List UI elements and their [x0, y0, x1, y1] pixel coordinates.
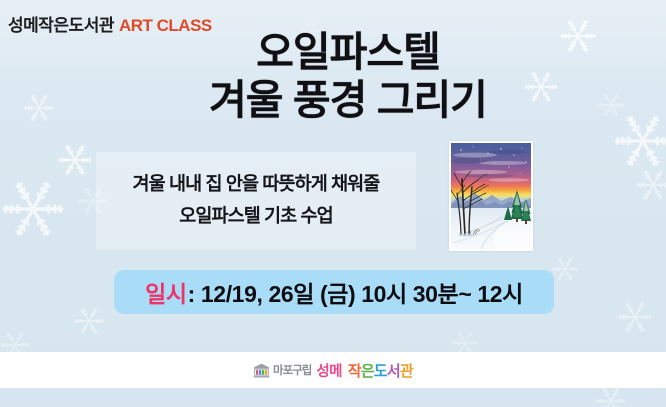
logo-sub-char-2: 은 [361, 363, 374, 380]
schedule-separator: : [188, 281, 195, 307]
schedule-banner: 일시: 12/19, 26일 (금) 10시 30분~ 12시 [114, 270, 554, 314]
snowflake-icon [618, 300, 652, 338]
poster-root: 성메작은도서관ART CLASS 오일파스텔 겨울 풍경 그리기 겨울 내내 집… [0, 0, 666, 407]
library-building-icon [253, 363, 270, 378]
library-logo: 마포구립 성메 작은도서관 [253, 360, 413, 381]
snowflake-icon [2, 178, 64, 244]
footer-band: 마포구립 성메 작은도서관 [0, 352, 666, 388]
logo-district: 마포구립 [273, 362, 311, 378]
winter-landscape-painting-icon [451, 143, 531, 249]
logo-sub-char-4: 서 [387, 363, 400, 380]
snowflake-icon [596, 386, 626, 407]
schedule-text: 일시: 12/19, 26일 (금) 10시 30분~ 12시 [145, 275, 523, 309]
subtitle-panel: 겨울 내내 집 안을 따뜻하게 채워줄 오일파스텔 기초 수업 [96, 152, 416, 250]
title-line-secondary: 겨울 풍경 그리기 [30, 78, 666, 124]
title-line-primary: 오일파스텔 [30, 30, 666, 76]
snowflake-icon [74, 306, 104, 340]
subtitle-line-2: 오일파스텔 기초 수업 [104, 200, 408, 232]
logo-library-sub: 작은도서관 [348, 360, 413, 381]
logo-sub-char-5: 관 [400, 363, 413, 380]
logo-sub-char-3: 도 [374, 363, 387, 380]
logo-sub-char-1: 작 [348, 363, 361, 380]
snowflake-icon [636, 168, 666, 206]
page-title: 오일파스텔 겨울 풍경 그리기 [0, 30, 666, 124]
artwork-thumbnail [449, 141, 533, 251]
snowflake-icon [58, 143, 92, 181]
schedule-label: 일시 [145, 281, 187, 307]
subtitle-line-1: 겨울 내내 집 안을 따뜻하게 채워줄 [104, 168, 408, 200]
logo-library-name: 성메 [316, 360, 341, 381]
snowflake-icon [552, 256, 578, 286]
schedule-value: 12/19, 26일 (금) 10시 30분~ 12시 [201, 281, 523, 307]
